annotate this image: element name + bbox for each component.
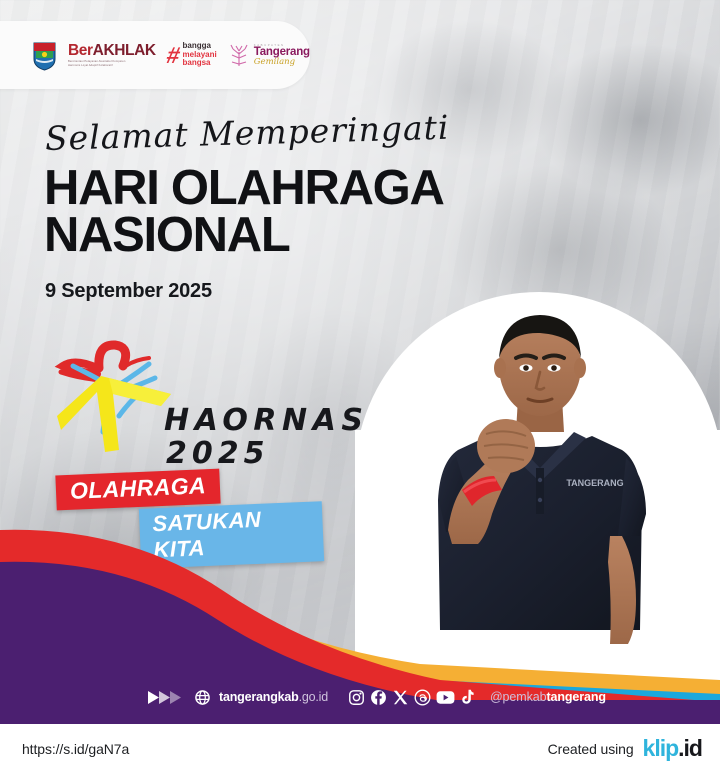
website-url[interactable]: tangerangkab.go.id [219, 690, 328, 704]
globe-icon [195, 690, 210, 705]
bangga-line-3: bangsa [183, 59, 217, 68]
header-logo-card: BerAKHLAK Berorientasi Pelayanan Akuntab… [0, 21, 310, 89]
hash-icon: # [164, 44, 182, 67]
berakhlak-suffix: AKHLAK [93, 42, 156, 59]
klip-domain: .id [678, 735, 702, 761]
threads-icon[interactable] [414, 689, 431, 706]
short-url[interactable]: https://s.id/gaN7a [22, 741, 129, 757]
facebook-icon[interactable] [370, 689, 387, 706]
social-handle[interactable]: @pemkabtangerang [490, 690, 606, 704]
tangerang-tree-icon [228, 42, 250, 68]
event-date: 9 September 2025 [45, 280, 212, 303]
headline-line-2: NASIONAL [44, 212, 444, 259]
tangerang-tagline: Gemilang [254, 58, 295, 67]
berakhlak-prefix: Ber [68, 42, 93, 59]
klip-brand: klip [643, 735, 679, 761]
poster-canvas: BerAKHLAK Berorientasi Pelayanan Akuntab… [0, 0, 720, 724]
tangerang-gemilang-logo: KABUPATEN Tangerang Gemilang [228, 42, 310, 68]
haornas-wordmark: HAORNAS [164, 407, 368, 436]
footer-bar: tangerangkab.go.id [0, 684, 720, 710]
social-handle-bold: tangerang [546, 690, 606, 704]
created-using-label: Created using [548, 741, 634, 757]
berakhlak-wordmark: BerAKHLAK [68, 43, 156, 59]
klip-id-logo[interactable]: klip.id [643, 735, 702, 762]
youtube-icon[interactable] [436, 689, 455, 706]
tiktok-icon[interactable] [460, 689, 474, 706]
instagram-icon[interactable] [348, 689, 365, 706]
status-bar: https://s.id/gaN7a Created using klip.id [0, 724, 720, 773]
svg-text:TANGERANG: TANGERANG [566, 478, 623, 488]
x-icon[interactable] [392, 689, 409, 706]
kabupaten-tangerang-emblem-icon [32, 40, 57, 71]
bangga-melayani-bangsa-logo: # bangga melayani bangsa [167, 42, 217, 68]
haornas-figure-icon [53, 332, 183, 467]
berakhlak-tagline-2: Harmonis Loyal Adaptif Kolaboratif [68, 65, 156, 68]
fast-forward-icon [148, 691, 186, 704]
website-suffix: .go.id [299, 690, 328, 704]
headline-line-1: HARI OLAHRAGA [44, 161, 444, 215]
berakhlak-logo: BerAKHLAK Berorientasi Pelayanan Akuntab… [68, 43, 156, 67]
page-title: HARI OLAHRAGA NASIONAL [44, 165, 444, 259]
social-icons [348, 689, 474, 706]
haornas-year: 2025 [166, 436, 270, 471]
